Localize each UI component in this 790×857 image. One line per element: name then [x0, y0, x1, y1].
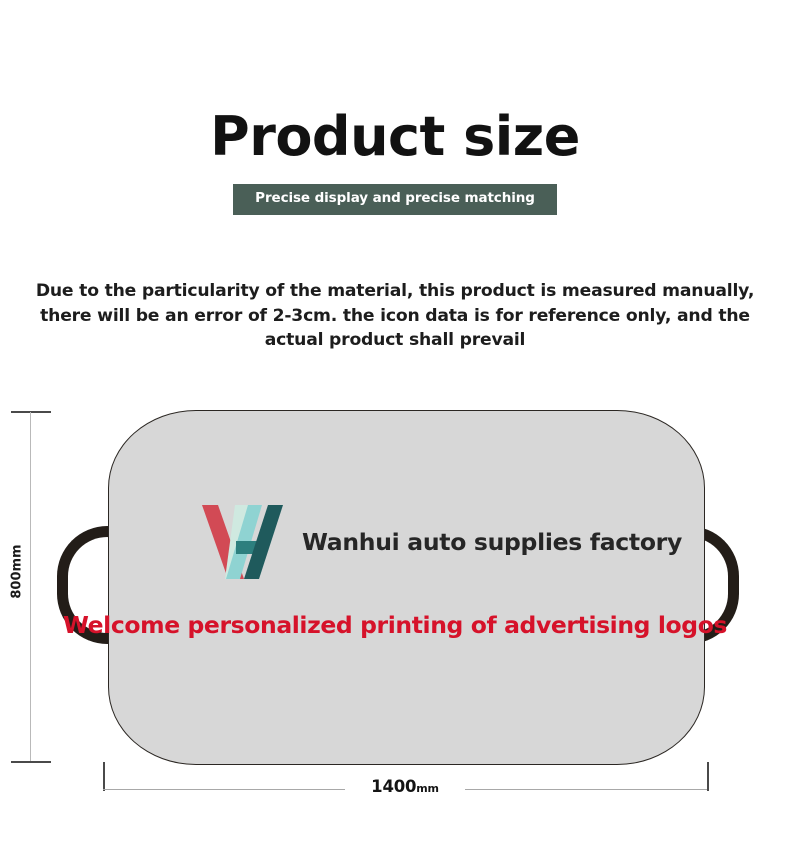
wanhui-wh-logo-icon [196, 503, 288, 581]
width-dimension-label: 1400mm [345, 777, 465, 796]
height-dimension-line [30, 412, 31, 762]
height-dimension-label: 800mm [8, 536, 27, 608]
width-dimension-unit: mm [416, 782, 439, 795]
product-body-shape [108, 410, 705, 765]
promo-text: Welcome personalized printing of adverti… [0, 611, 790, 639]
brand-lockup: Wanhui auto supplies factory [196, 503, 682, 581]
height-dimension-cap-bottom [11, 761, 51, 763]
width-dimension-value: 1400 [371, 777, 416, 796]
product-illustration: Wanhui auto supplies factory Welcome per… [0, 0, 790, 857]
width-dimension-cap-left [103, 762, 105, 791]
brand-name: Wanhui auto supplies factory [302, 528, 682, 556]
width-dimension-cap-right [707, 762, 709, 791]
